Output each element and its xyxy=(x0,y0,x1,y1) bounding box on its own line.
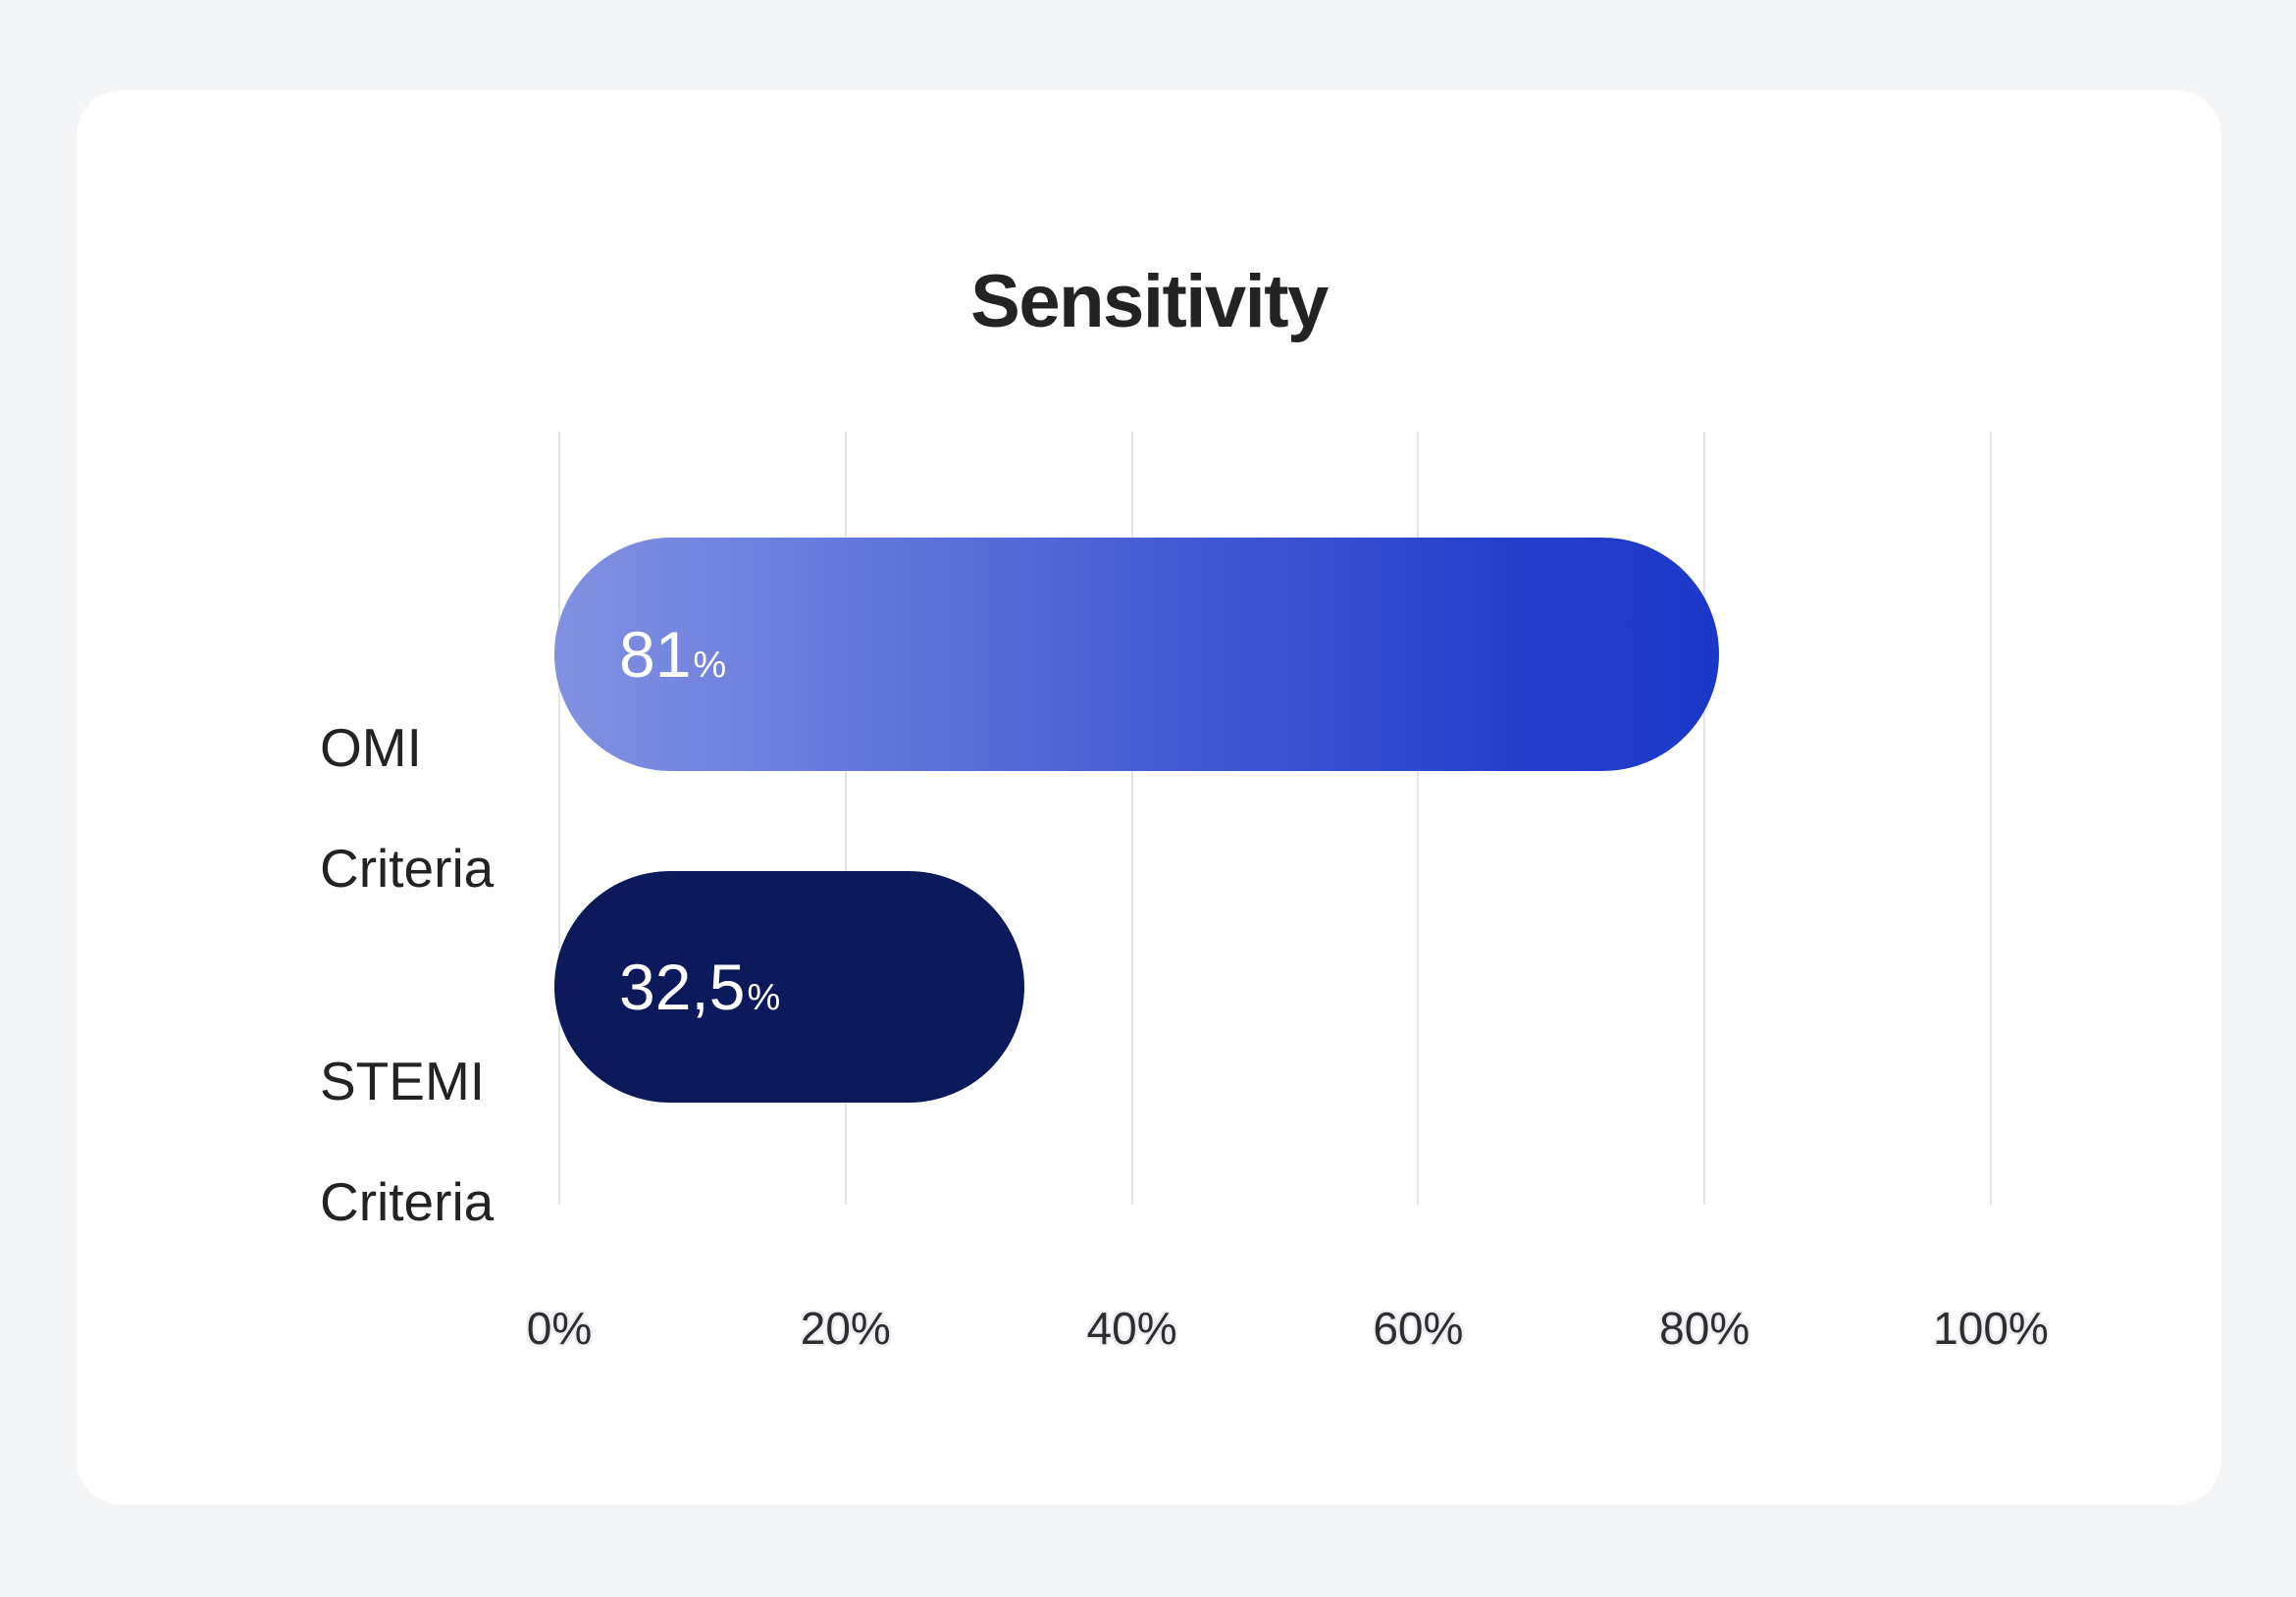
x-tick-label-60: 60% xyxy=(1373,1302,1463,1355)
bar-stemi[interactable]: 32,5% xyxy=(554,871,1024,1103)
x-tick-label-20: 20% xyxy=(801,1302,891,1355)
x-tick-label-100: 100% xyxy=(1933,1302,2049,1355)
category-label-omi: OMI Criteria xyxy=(320,657,546,959)
category-label-omi-line2: Criteria xyxy=(320,839,546,900)
bar-value-omi-number: 81 xyxy=(619,622,691,687)
category-label-stemi-line1: STEMI xyxy=(320,1052,546,1112)
chart-page: Sensitivity OMI Criteria STEMI Criteria … xyxy=(0,0,2296,1597)
plot-area: 81% 32,5% xyxy=(559,432,1991,1205)
bar-value-omi: 81% xyxy=(619,622,726,687)
bars-group: 81% 32,5% xyxy=(559,432,1991,1205)
bar-value-omi-unit: % xyxy=(693,646,726,684)
chart-card: Sensitivity OMI Criteria STEMI Criteria … xyxy=(77,90,2221,1505)
category-label-omi-line1: OMI xyxy=(320,718,546,779)
bar-value-stemi: 32,5% xyxy=(619,954,780,1019)
category-label-stemi: STEMI Criteria xyxy=(320,991,546,1293)
bar-value-stemi-unit: % xyxy=(747,979,780,1016)
bar-omi[interactable]: 81% xyxy=(554,538,1719,771)
bar-value-stemi-number: 32,5 xyxy=(619,954,745,1019)
chart-title: Sensitivity xyxy=(77,259,2221,344)
x-tick-label-0: 0% xyxy=(527,1302,592,1355)
x-tick-label-80: 80% xyxy=(1659,1302,1749,1355)
x-axis-tick-labels: 0%20%40%60%80%100% xyxy=(559,1302,1991,1370)
bar-row-omi: 81% xyxy=(554,538,1719,771)
x-tick-label-40: 40% xyxy=(1087,1302,1177,1355)
category-label-stemi-line2: Criteria xyxy=(320,1172,546,1233)
bar-row-stemi: 32,5% xyxy=(554,871,1024,1103)
